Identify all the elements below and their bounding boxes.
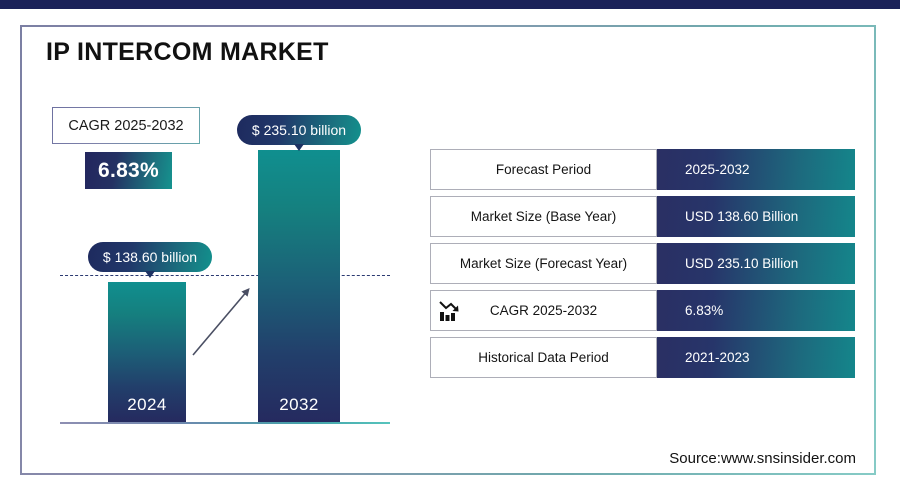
table-row-label-cell: Forecast Period [430, 149, 657, 190]
table-row-value: USD 138.60 Billion [685, 209, 798, 224]
table-row-value-cell: USD 235.10 Billion [657, 243, 855, 284]
table-row-value: 2021-2023 [685, 350, 750, 365]
source-attribution: Source:www.snsinsider.com [669, 450, 856, 467]
callout-pill-2032-text: $ 235.10 billion [252, 122, 346, 138]
table-row: Historical Data Period 2021-2023 [430, 337, 855, 378]
table-row-label: CAGR 2025-2032 [490, 303, 597, 318]
table-row-value-cell: 2025-2032 [657, 149, 855, 190]
callout-pill-2024-text: $ 138.60 billion [103, 249, 197, 265]
table-row: Market Size (Forecast Year) USD 235.10 B… [430, 243, 855, 284]
market-summary-table: Forecast Period 2025-2032 Market Size (B… [430, 149, 855, 384]
table-row-label: Historical Data Period [478, 350, 609, 365]
infographic-canvas: IP INTERCOM MARKET CAGR 2025-2032 6.83% … [0, 0, 900, 500]
top-accent-bar [0, 0, 900, 9]
chart-baseline-axis [60, 422, 390, 424]
table-row-label-cell: CAGR 2025-2032 [430, 290, 657, 331]
table-row-value: USD 235.10 Billion [685, 256, 798, 271]
table-row: Market Size (Base Year) USD 138.60 Billi… [430, 196, 855, 237]
bar-label-2024: 2024 [108, 395, 186, 415]
table-row-value-cell: 2021-2023 [657, 337, 855, 378]
table-row-label-cell: Market Size (Forecast Year) [430, 243, 657, 284]
table-row-label: Market Size (Base Year) [471, 209, 617, 224]
bar-chart-arrow-icon [438, 299, 462, 323]
table-row-label: Forecast Period [496, 162, 591, 177]
growth-arrow-icon [190, 280, 260, 358]
table-row-value-cell: USD 138.60 Billion [657, 196, 855, 237]
bar-label-2032: 2032 [258, 395, 340, 415]
bar-2024: 2024 [108, 282, 186, 422]
table-row-value-cell: 6.83% [657, 290, 855, 331]
bar-2032: 2032 [258, 150, 340, 422]
callout-pill-2024: $ 138.60 billion [88, 242, 212, 272]
table-row-label: Market Size (Forecast Year) [460, 256, 627, 271]
reference-dashed-line [60, 275, 390, 276]
page-title: IP INTERCOM MARKET [46, 38, 329, 67]
table-row-label-cell: Historical Data Period [430, 337, 657, 378]
table-row-value: 2025-2032 [685, 162, 750, 177]
table-row-value: 6.83% [685, 303, 723, 318]
table-row-label-cell: Market Size (Base Year) [430, 196, 657, 237]
callout-pill-2032: $ 235.10 billion [237, 115, 361, 145]
table-row: CAGR 2025-2032 6.83% [430, 290, 855, 331]
table-row: Forecast Period 2025-2032 [430, 149, 855, 190]
